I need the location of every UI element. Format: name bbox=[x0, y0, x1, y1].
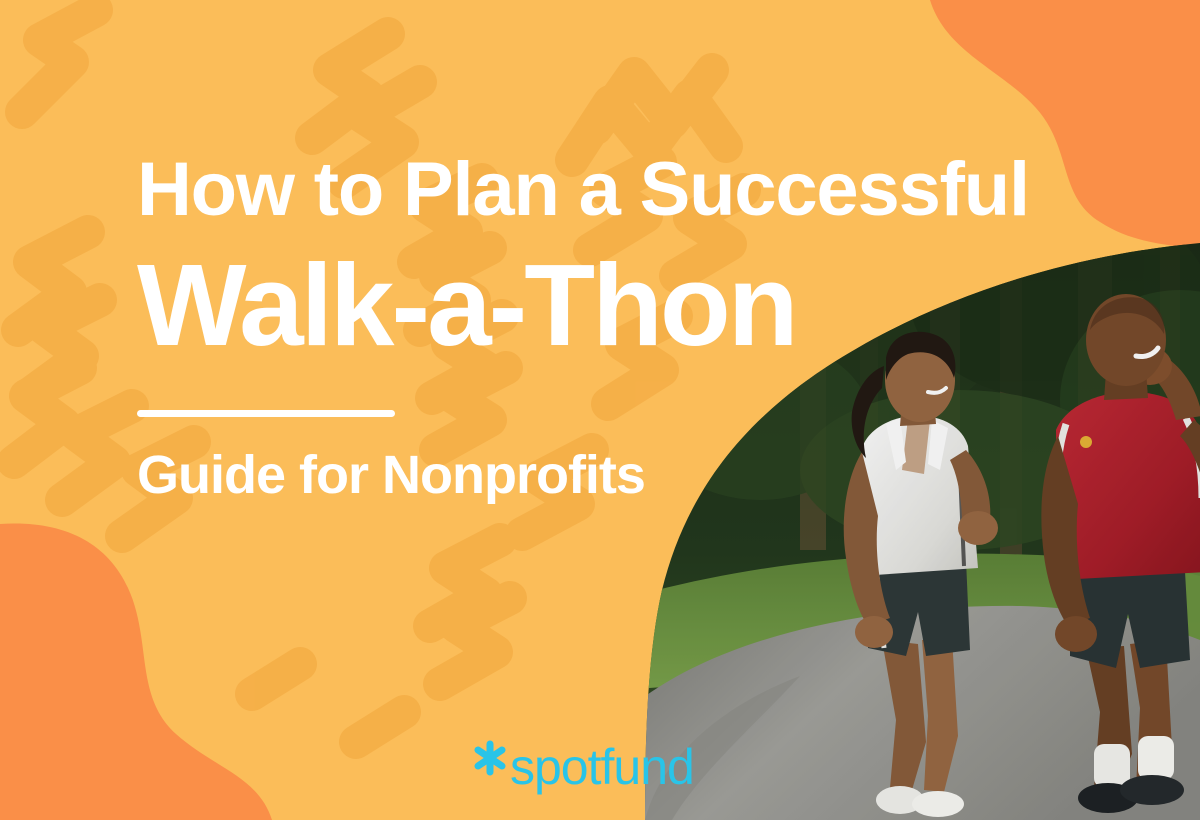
spotfund-logo-svg: spotfund bbox=[474, 738, 726, 796]
spotfund-logo[interactable]: spotfund bbox=[474, 738, 726, 796]
hero-subtitle: Guide for Nonprofits bbox=[137, 446, 967, 504]
hero-title-line-1: How to Plan a Successful bbox=[137, 150, 967, 230]
hero-text-block: How to Plan a Successful Walk-a-Thon Gui… bbox=[137, 150, 967, 504]
asterisk-icon bbox=[478, 744, 502, 772]
spotfund-wordmark: spotfund bbox=[510, 739, 694, 795]
hero-title-line-2: Walk-a-Thon bbox=[137, 246, 967, 364]
hero-banner: How to Plan a Successful Walk-a-Thon Gui… bbox=[0, 0, 1200, 820]
hero-divider bbox=[137, 410, 395, 417]
